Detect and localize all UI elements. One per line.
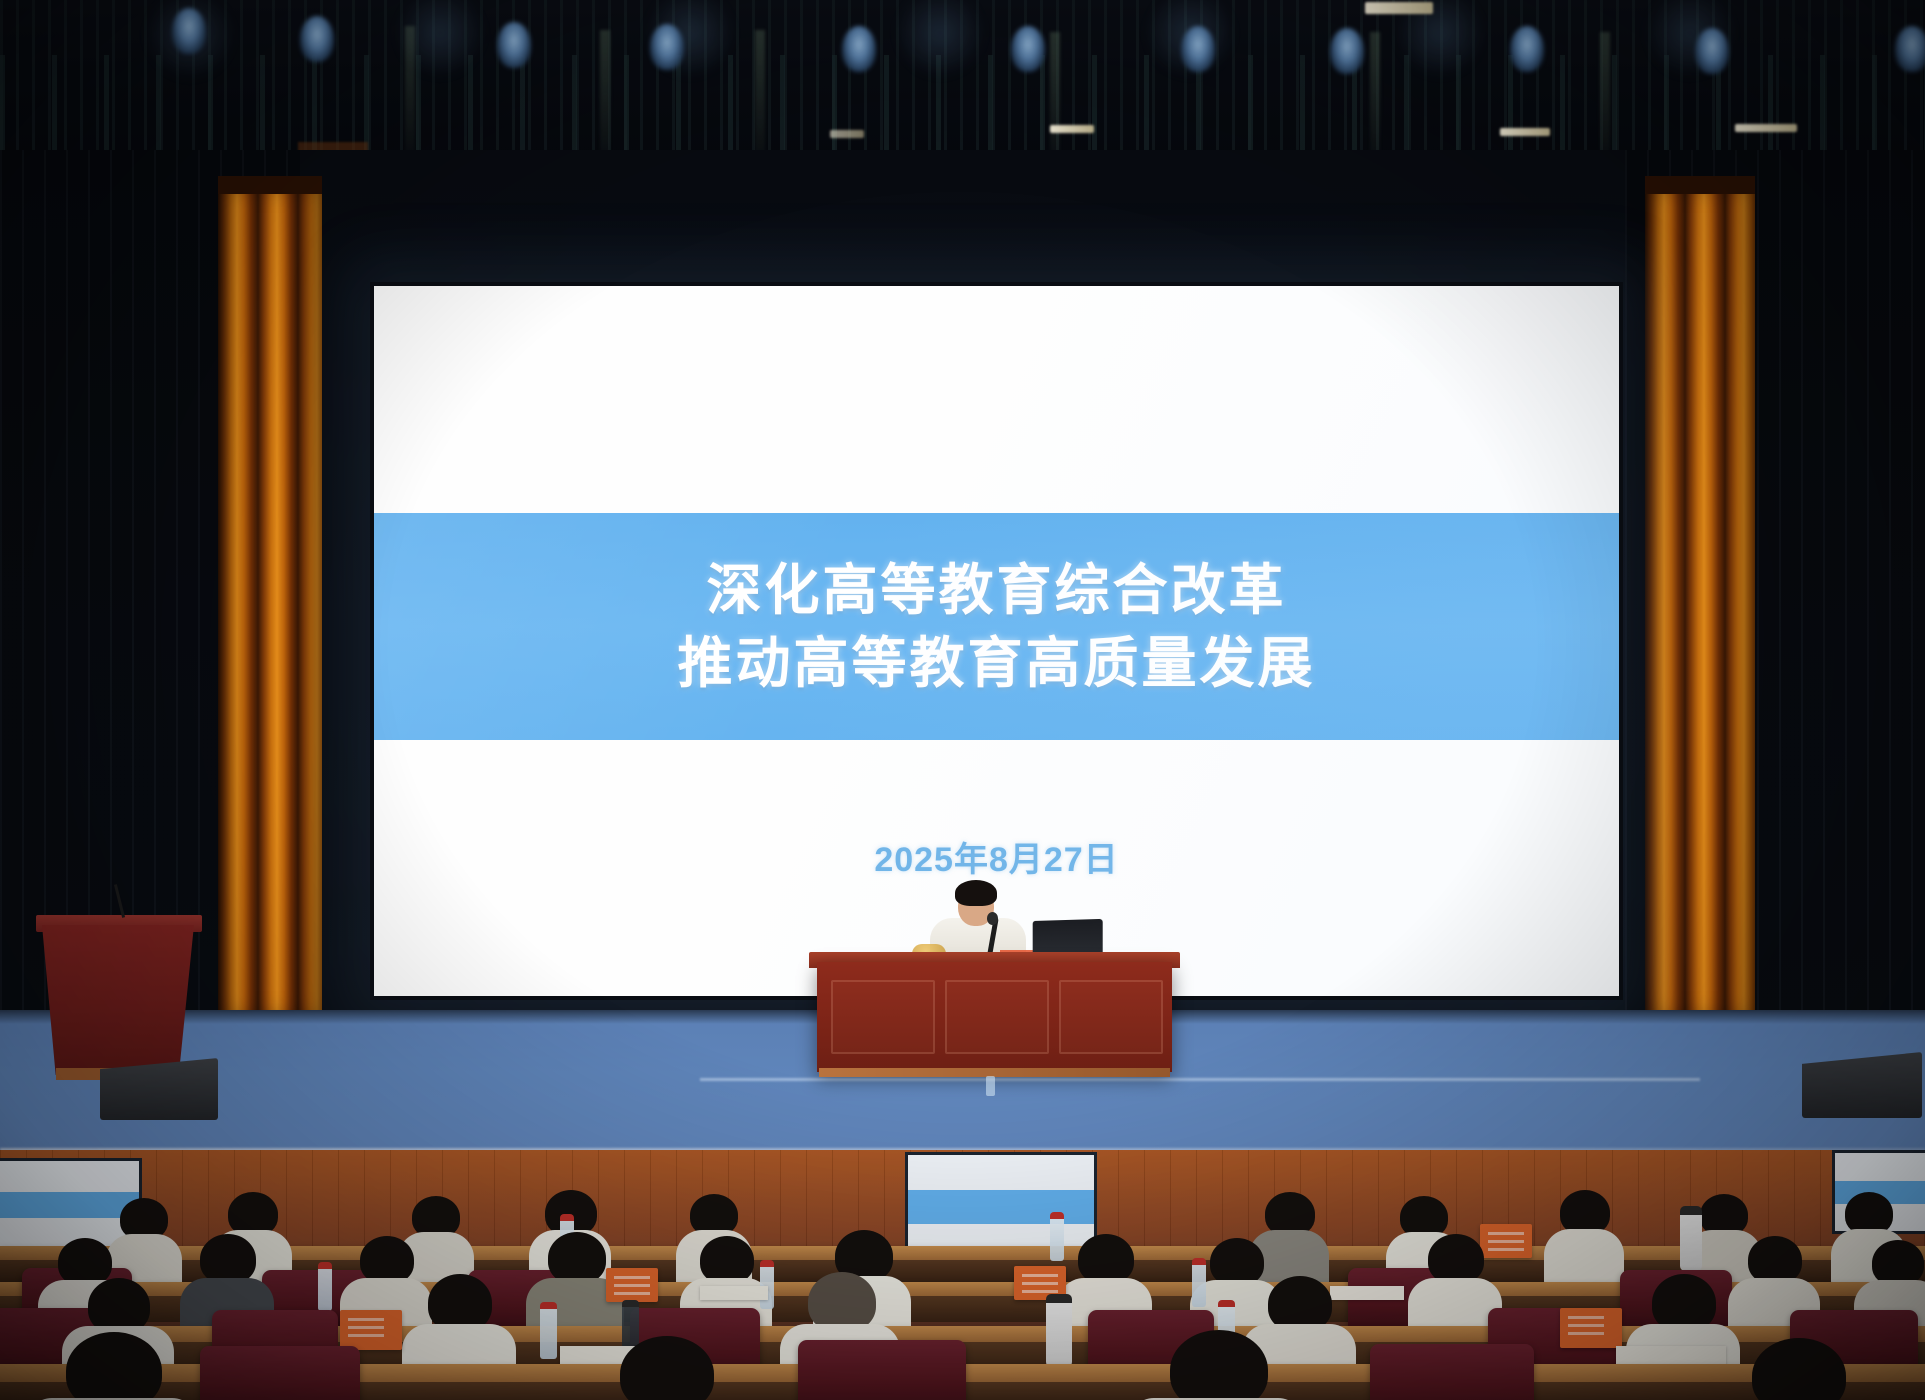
ceiling-lamp <box>830 130 864 138</box>
water-bottle <box>318 1262 332 1311</box>
stage-curtain-right <box>1645 176 1755 1028</box>
speaker-hair <box>955 880 997 906</box>
audience-head <box>360 1236 414 1284</box>
stage-water-bottle <box>986 1076 995 1096</box>
audience-head <box>58 1238 112 1286</box>
name-card <box>1560 1308 1622 1348</box>
slide-title-band: 深化高等教育综合改革 推动高等教育高质量发展 <box>374 513 1619 740</box>
curtain-valance <box>1645 176 1755 194</box>
desk-panel <box>831 980 935 1054</box>
audience-head <box>1748 1236 1802 1284</box>
curtain-valance <box>218 176 322 194</box>
audience-head <box>1078 1234 1134 1284</box>
thermos-flask <box>1046 1294 1072 1367</box>
audience-head <box>700 1236 754 1284</box>
audience-chair <box>200 1346 360 1400</box>
podium <box>42 925 194 1075</box>
audience-head <box>1210 1238 1264 1286</box>
ceiling-spotlight <box>1011 26 1045 72</box>
ceiling-lamp <box>1050 125 1094 133</box>
thermos-flask <box>1680 1206 1702 1271</box>
speaker-microphone-head-icon <box>987 912 998 925</box>
speaker-desk-base <box>819 1068 1170 1077</box>
handout-paper <box>700 1286 768 1300</box>
ceiling-spotlight <box>1510 26 1544 72</box>
desk-panel <box>1059 980 1163 1054</box>
ceiling-lamp <box>1500 128 1550 136</box>
ceiling-lamp <box>1735 124 1797 132</box>
slide-date: 2025年8月27日 <box>374 832 1619 881</box>
ceiling-spotlight <box>1895 26 1925 72</box>
slide-title-line-2: 推动高等教育高质量发展 <box>677 627 1315 700</box>
aux-screen-band <box>0 1192 139 1218</box>
speaker-desk <box>817 962 1172 1072</box>
ceiling-spotlight <box>497 22 531 68</box>
ceiling-spotlight <box>300 16 334 62</box>
ceiling-spotlight <box>172 8 206 54</box>
audience-chair <box>1370 1344 1534 1400</box>
water-bottle <box>540 1302 557 1359</box>
ceiling-spotlight <box>842 26 876 72</box>
slide-top-margin <box>374 286 1619 513</box>
audience-head <box>808 1272 876 1332</box>
audience-head <box>200 1234 256 1284</box>
handout-paper <box>1330 1286 1404 1300</box>
stage-curtain-left <box>218 176 322 1028</box>
name-card <box>1480 1224 1532 1258</box>
water-bottle <box>1192 1258 1206 1307</box>
water-bottle <box>1050 1212 1064 1261</box>
ceiling-spotlight <box>1695 28 1729 74</box>
audience-chair <box>798 1340 966 1400</box>
ceiling-spotlight <box>650 24 684 70</box>
audience-head <box>1428 1234 1484 1284</box>
name-card <box>606 1268 658 1302</box>
ceiling-lamp <box>1365 2 1433 14</box>
conference-hall-photo: 深化高等教育综合改革 推动高等教育高质量发展 2025年8月27日 <box>0 0 1925 1400</box>
aux-screen-band <box>908 1190 1094 1223</box>
audience-area <box>0 1150 1925 1400</box>
handout-paper <box>1616 1346 1726 1366</box>
name-card <box>340 1310 402 1350</box>
audience-head <box>66 1332 162 1400</box>
water-bottle <box>760 1260 774 1309</box>
ceiling-spotlight <box>1330 28 1364 74</box>
ceiling-spotlight <box>1181 26 1215 72</box>
desk-panel <box>945 980 1049 1054</box>
stage-floor-seam <box>700 1078 1700 1081</box>
audience-head <box>1170 1330 1268 1400</box>
audience-torso <box>1544 1229 1624 1287</box>
audience-head <box>548 1232 606 1284</box>
slide-title-line-1: 深化高等教育综合改革 <box>706 554 1286 627</box>
